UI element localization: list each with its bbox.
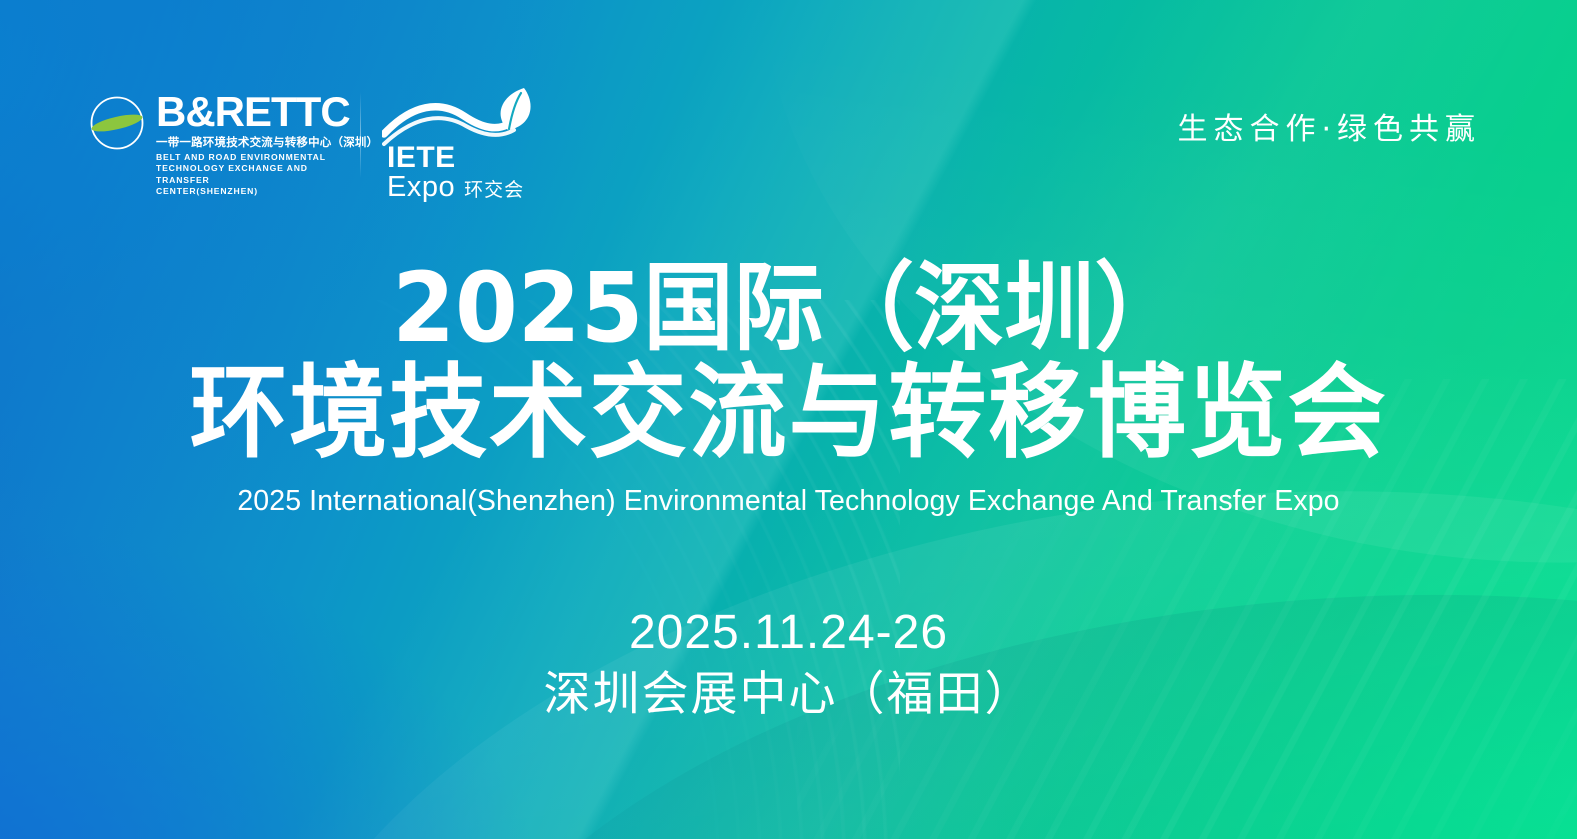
globe-icon [88, 94, 146, 152]
logo-divider [360, 92, 361, 178]
iete-wordmark: IETE [387, 142, 456, 174]
event-info-block: 2025.11.24-26 深圳会展中心（福田） [0, 604, 1577, 724]
title-block: 2025国际（深圳） 环境技术交流与转移博览会 2025 Internation… [0, 258, 1577, 518]
brettc-english-line-1: BELT AND ROAD ENVIRONMENTAL [156, 152, 336, 163]
event-date: 2025.11.24-26 [0, 604, 1577, 662]
header-slogan: 生态合作·绿色共赢 [1177, 104, 1481, 148]
iete-expo-label: Expo [387, 172, 455, 202]
poster-banner: B&RETTC 一带一路环境技术交流与转移中心（深圳） BELT AND ROA… [0, 0, 1577, 839]
brettc-wordmark: B&RETTC [156, 90, 378, 134]
iete-chinese-label: 环交会 [464, 179, 524, 201]
page-title-line-2: 环境技术交流与转移博览会 [32, 360, 1546, 468]
brettc-english-line-2: TECHNOLOGY EXCHANGE AND TRANSFER [156, 163, 336, 186]
iete-expo-logo[interactable]: IETE Expo 环交会 [382, 86, 542, 194]
page-title-line-1: 2025国际（深圳） [47, 258, 1529, 358]
event-venue: 深圳会展中心（福田） [0, 666, 1577, 724]
page-subtitle-english: 2025 International(Shenzhen) Environment… [0, 484, 1577, 518]
brettc-logo[interactable]: B&RETTC 一带一路环境技术交流与转移中心（深圳） BELT AND ROA… [88, 88, 378, 198]
brettc-english-line-3: CENTER(SHENZHEN) [156, 186, 336, 197]
poster-header: B&RETTC 一带一路环境技术交流与转移中心（深圳） BELT AND ROA… [0, 0, 1577, 210]
brettc-chinese-name: 一带一路环境技术交流与转移中心（深圳） [156, 135, 378, 150]
